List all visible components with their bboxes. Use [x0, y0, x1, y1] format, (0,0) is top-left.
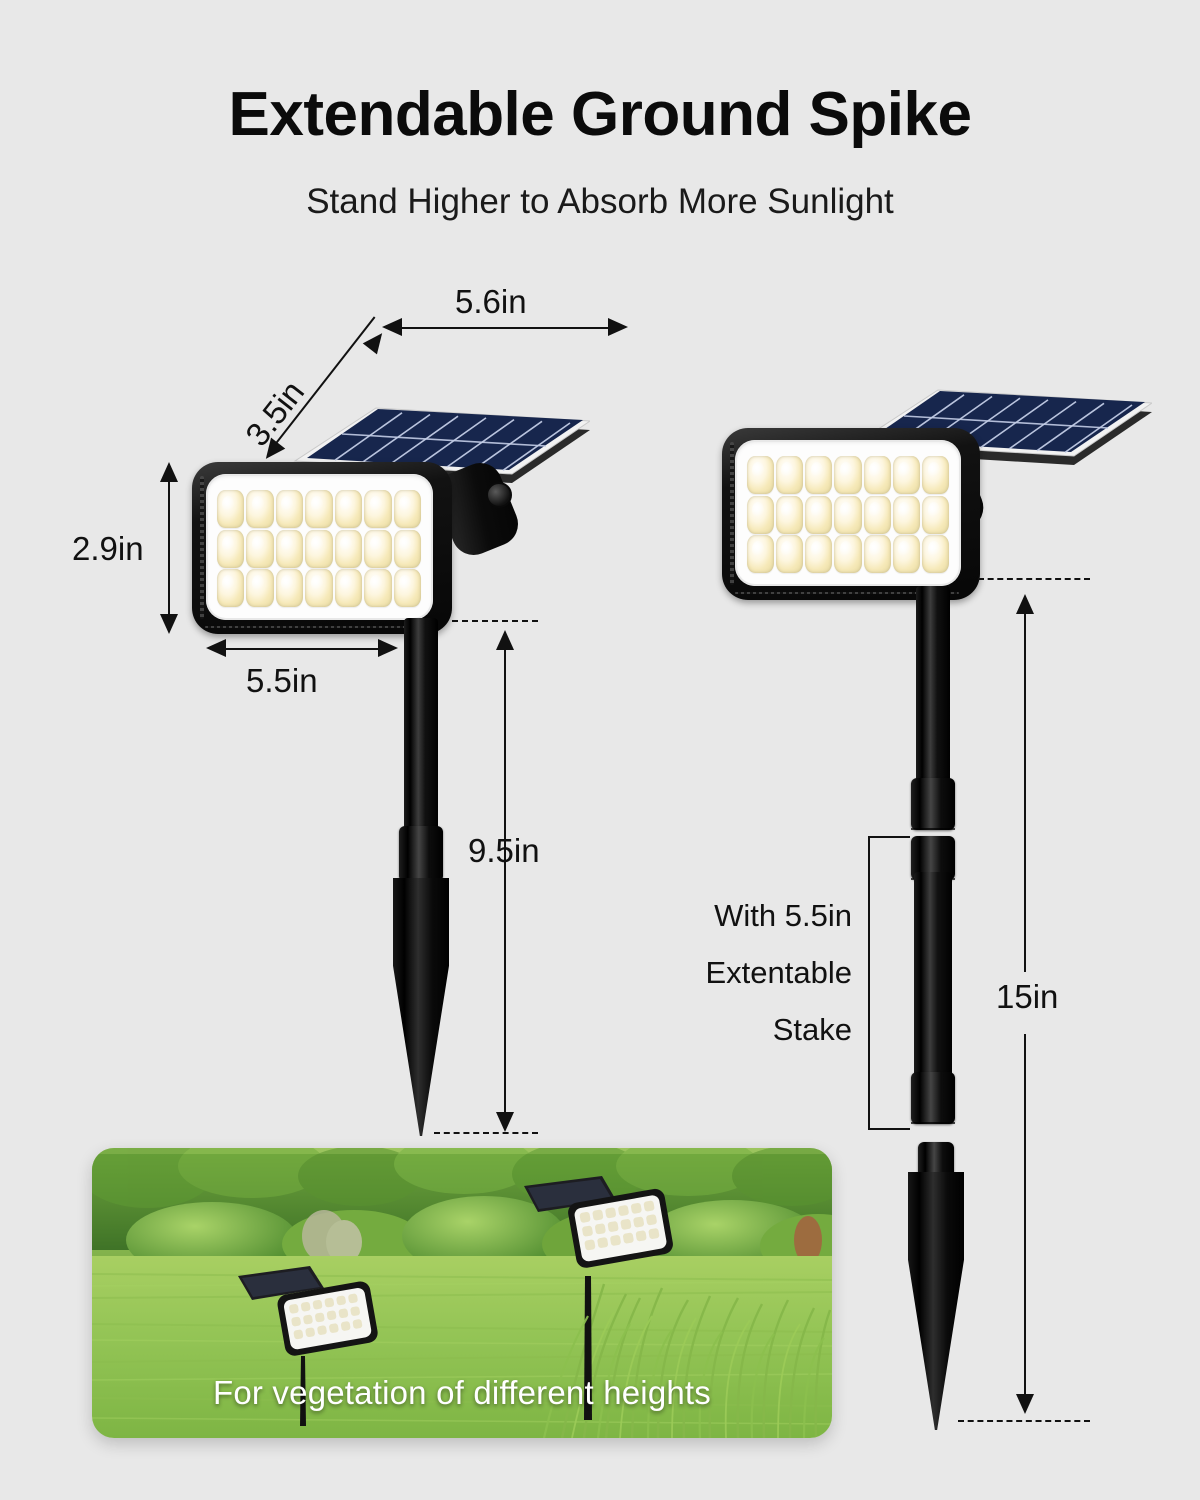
- led: [276, 530, 303, 568]
- led: [922, 456, 949, 494]
- led: [364, 490, 391, 528]
- dim-arrow-head-height-top: [160, 462, 178, 482]
- led: [335, 490, 362, 528]
- dim-arrow-head-width-left: [206, 639, 226, 657]
- dim-label-panel-width: 5.6in: [455, 283, 527, 321]
- led-array-left: [217, 490, 421, 607]
- led: [217, 490, 244, 528]
- led: [922, 496, 949, 534]
- led: [217, 569, 244, 607]
- led: [864, 535, 891, 573]
- led: [893, 496, 920, 534]
- dim-extension-top-right: [978, 578, 1090, 580]
- led: [864, 496, 891, 534]
- led: [776, 496, 803, 534]
- dim-arrow-total-height-right-bottom: [1016, 1394, 1034, 1414]
- led-diffuser-left: [206, 474, 433, 620]
- pole-upper-right: [916, 586, 950, 782]
- pole-extension-right: [914, 872, 952, 1084]
- dim-extension-bottom-left: [434, 1132, 538, 1134]
- led: [246, 569, 273, 607]
- led: [276, 569, 303, 607]
- dim-arrow-total-height-right-top: [1016, 594, 1034, 614]
- dim-arrow-total-height-bottom: [496, 1112, 514, 1132]
- head-bezel-ribs-left: [200, 476, 204, 619]
- led: [805, 535, 832, 573]
- led: [246, 490, 273, 528]
- led: [747, 496, 774, 534]
- led: [776, 456, 803, 494]
- dim-line-total-height: [504, 648, 506, 1118]
- led: [747, 535, 774, 573]
- led: [394, 569, 421, 607]
- dim-line-head-width: [216, 648, 388, 650]
- led-array-right: [747, 456, 950, 573]
- extension-collar-bottom: [911, 1072, 955, 1124]
- led: [335, 530, 362, 568]
- led: [834, 535, 861, 573]
- led: [217, 530, 244, 568]
- dim-arrow-total-height-top: [496, 630, 514, 650]
- led: [893, 456, 920, 494]
- led: [805, 496, 832, 534]
- led: [922, 535, 949, 573]
- pole-collar-left: [399, 826, 443, 882]
- ground-spike-left: [393, 878, 449, 1136]
- led: [776, 535, 803, 573]
- led: [864, 456, 891, 494]
- dim-line-total-height-right: [1024, 612, 1026, 972]
- led: [394, 530, 421, 568]
- dim-label-head-width: 5.5in: [246, 662, 318, 700]
- pole-collar-upper-right: [911, 778, 955, 830]
- led: [893, 535, 920, 573]
- dim-arrow-head-width-right: [378, 639, 398, 657]
- dim-arrow-head-height-bottom: [160, 614, 178, 634]
- led: [805, 456, 832, 494]
- head-bezel-ribs-right: [730, 442, 734, 585]
- led: [394, 490, 421, 528]
- dim-line-head-height: [168, 478, 170, 618]
- hinge-left: [486, 482, 512, 508]
- dim-line-total-height-right-lower: [1024, 1034, 1026, 1400]
- led: [364, 530, 391, 568]
- led-head-right: [722, 428, 980, 600]
- dim-extension-top-left: [452, 620, 538, 622]
- dim-arrow-panel-width-left: [382, 318, 402, 336]
- led: [305, 569, 332, 607]
- dim-label-total-height: 9.5in: [468, 832, 540, 870]
- led: [276, 490, 303, 528]
- pole-left: [404, 618, 438, 830]
- dim-label-total-height-right: 15in: [996, 978, 1058, 1016]
- photo-caption: For vegetation of different heights: [92, 1374, 832, 1412]
- led-diffuser-right: [735, 440, 960, 586]
- led: [747, 456, 774, 494]
- lifestyle-photo: For vegetation of different heights: [92, 1148, 832, 1438]
- left-product: 5.6in 3.5in 2.9in 5.5in 9.5in: [0, 0, 620, 1140]
- extendable-stake-line2: Extentable: [660, 955, 852, 991]
- led: [834, 496, 861, 534]
- head-bezel-ribs-bottom-left: [205, 626, 431, 628]
- led: [834, 456, 861, 494]
- ground-spike-right: [908, 1172, 964, 1430]
- led: [305, 490, 332, 528]
- dim-line-panel-width: [392, 327, 618, 329]
- dim-extension-bottom-right: [958, 1420, 1090, 1422]
- infographic-root: Extendable Ground Spike Stand Higher to …: [0, 0, 1200, 1500]
- led: [246, 530, 273, 568]
- dim-label-head-height: 2.9in: [72, 530, 144, 568]
- led: [364, 569, 391, 607]
- extendable-stake-line1: With 5.5in: [660, 898, 852, 934]
- extendable-stake-bracket: [868, 836, 910, 1130]
- led: [335, 569, 362, 607]
- led: [305, 530, 332, 568]
- led-head-left: [192, 462, 452, 634]
- extendable-stake-line3: Stake: [660, 1012, 852, 1048]
